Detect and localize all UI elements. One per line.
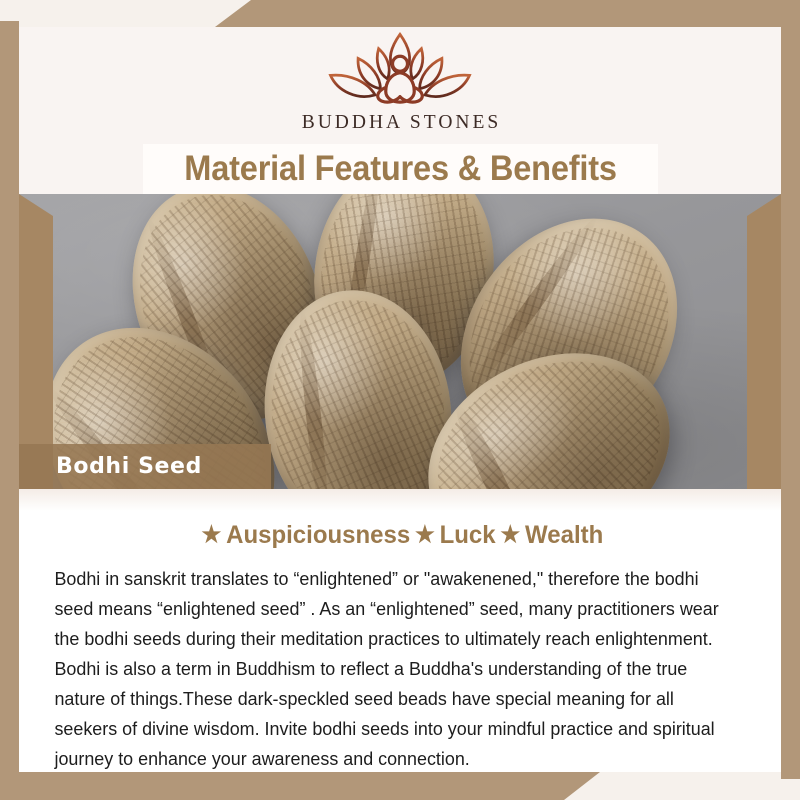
photo-right-corner-wedge [747,194,781,489]
product-name-label: Bodhi Seed [19,444,271,489]
star-icon: ★ [415,521,435,548]
star-icon: ★ [202,521,222,548]
page-title: Material Features & Benefits [184,149,617,189]
lotus-meditation-figure-icon [310,29,490,111]
decorative-right-rail [781,21,800,779]
star-icon: ★ [500,521,520,548]
benefit-auspiciousness: Auspiciousness [226,521,410,549]
benefits-headline: ★Auspiciousness★Luck★Wealth [34,489,766,550]
decorative-top-bar [215,0,800,27]
brand-header: BUDDHA STONES [19,27,781,142]
product-info-poster: BUDDHA STONES Material Features & Benefi… [0,0,800,800]
decorative-left-rail [0,21,19,779]
brand-wordmark: BUDDHA STONES [299,112,502,134]
benefit-wealth: Wealth [525,521,603,549]
benefit-luck: Luck [440,521,496,549]
description-text: Bodhi in sanskrit translates to “enlight… [19,550,770,774]
description-panel: ★Auspiciousness★Luck★Wealth Bodhi in san… [19,489,781,772]
product-name-text: Bodhi Seed [56,454,202,479]
decorative-bottom-bar [0,772,600,800]
title-banner: Material Features & Benefits [143,144,658,194]
